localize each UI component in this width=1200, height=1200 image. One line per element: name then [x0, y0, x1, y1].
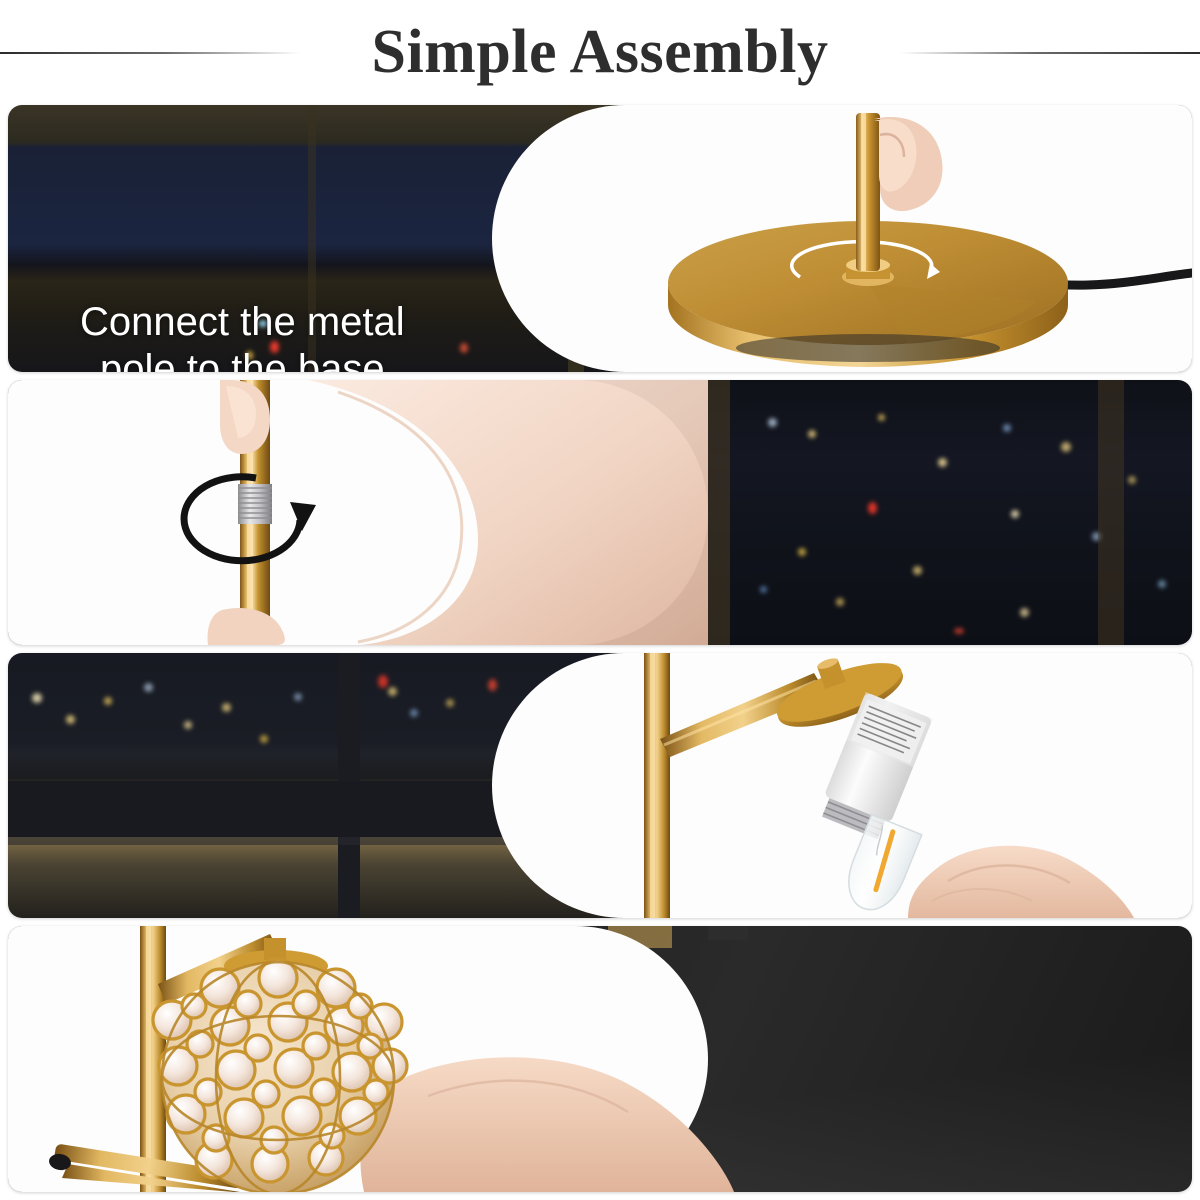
divider-line-left	[0, 52, 300, 54]
filament-bulb	[838, 815, 922, 918]
photo-tighten-poles	[8, 380, 1192, 645]
hand-holding-pole	[874, 117, 943, 211]
gold-pole	[644, 653, 670, 918]
step-panel-2: Tighten the metal poles	[8, 380, 1192, 645]
bottom-hand	[208, 608, 285, 645]
page-header: Simple Assembly	[0, 0, 1200, 100]
forearm	[308, 380, 708, 645]
step-caption-1: Connect the metal pole to the base	[80, 299, 405, 372]
divider-line-right	[900, 52, 1200, 54]
photo-install-lampshade	[8, 926, 1192, 1192]
page-title: Simple Assembly	[349, 21, 850, 83]
hand-holding-bulb	[908, 846, 1134, 918]
threaded-coupling	[238, 484, 272, 524]
gold-pole	[856, 113, 880, 271]
hand-holding-shade	[360, 1057, 734, 1192]
step-panel-4: Install the lampshades	[8, 926, 1192, 1192]
step-panel-1: Connect the metal pole to the base	[8, 105, 1192, 372]
step-panel-3: Install the bulbs (not included)	[8, 653, 1192, 918]
photo-install-bulb	[8, 653, 1192, 918]
